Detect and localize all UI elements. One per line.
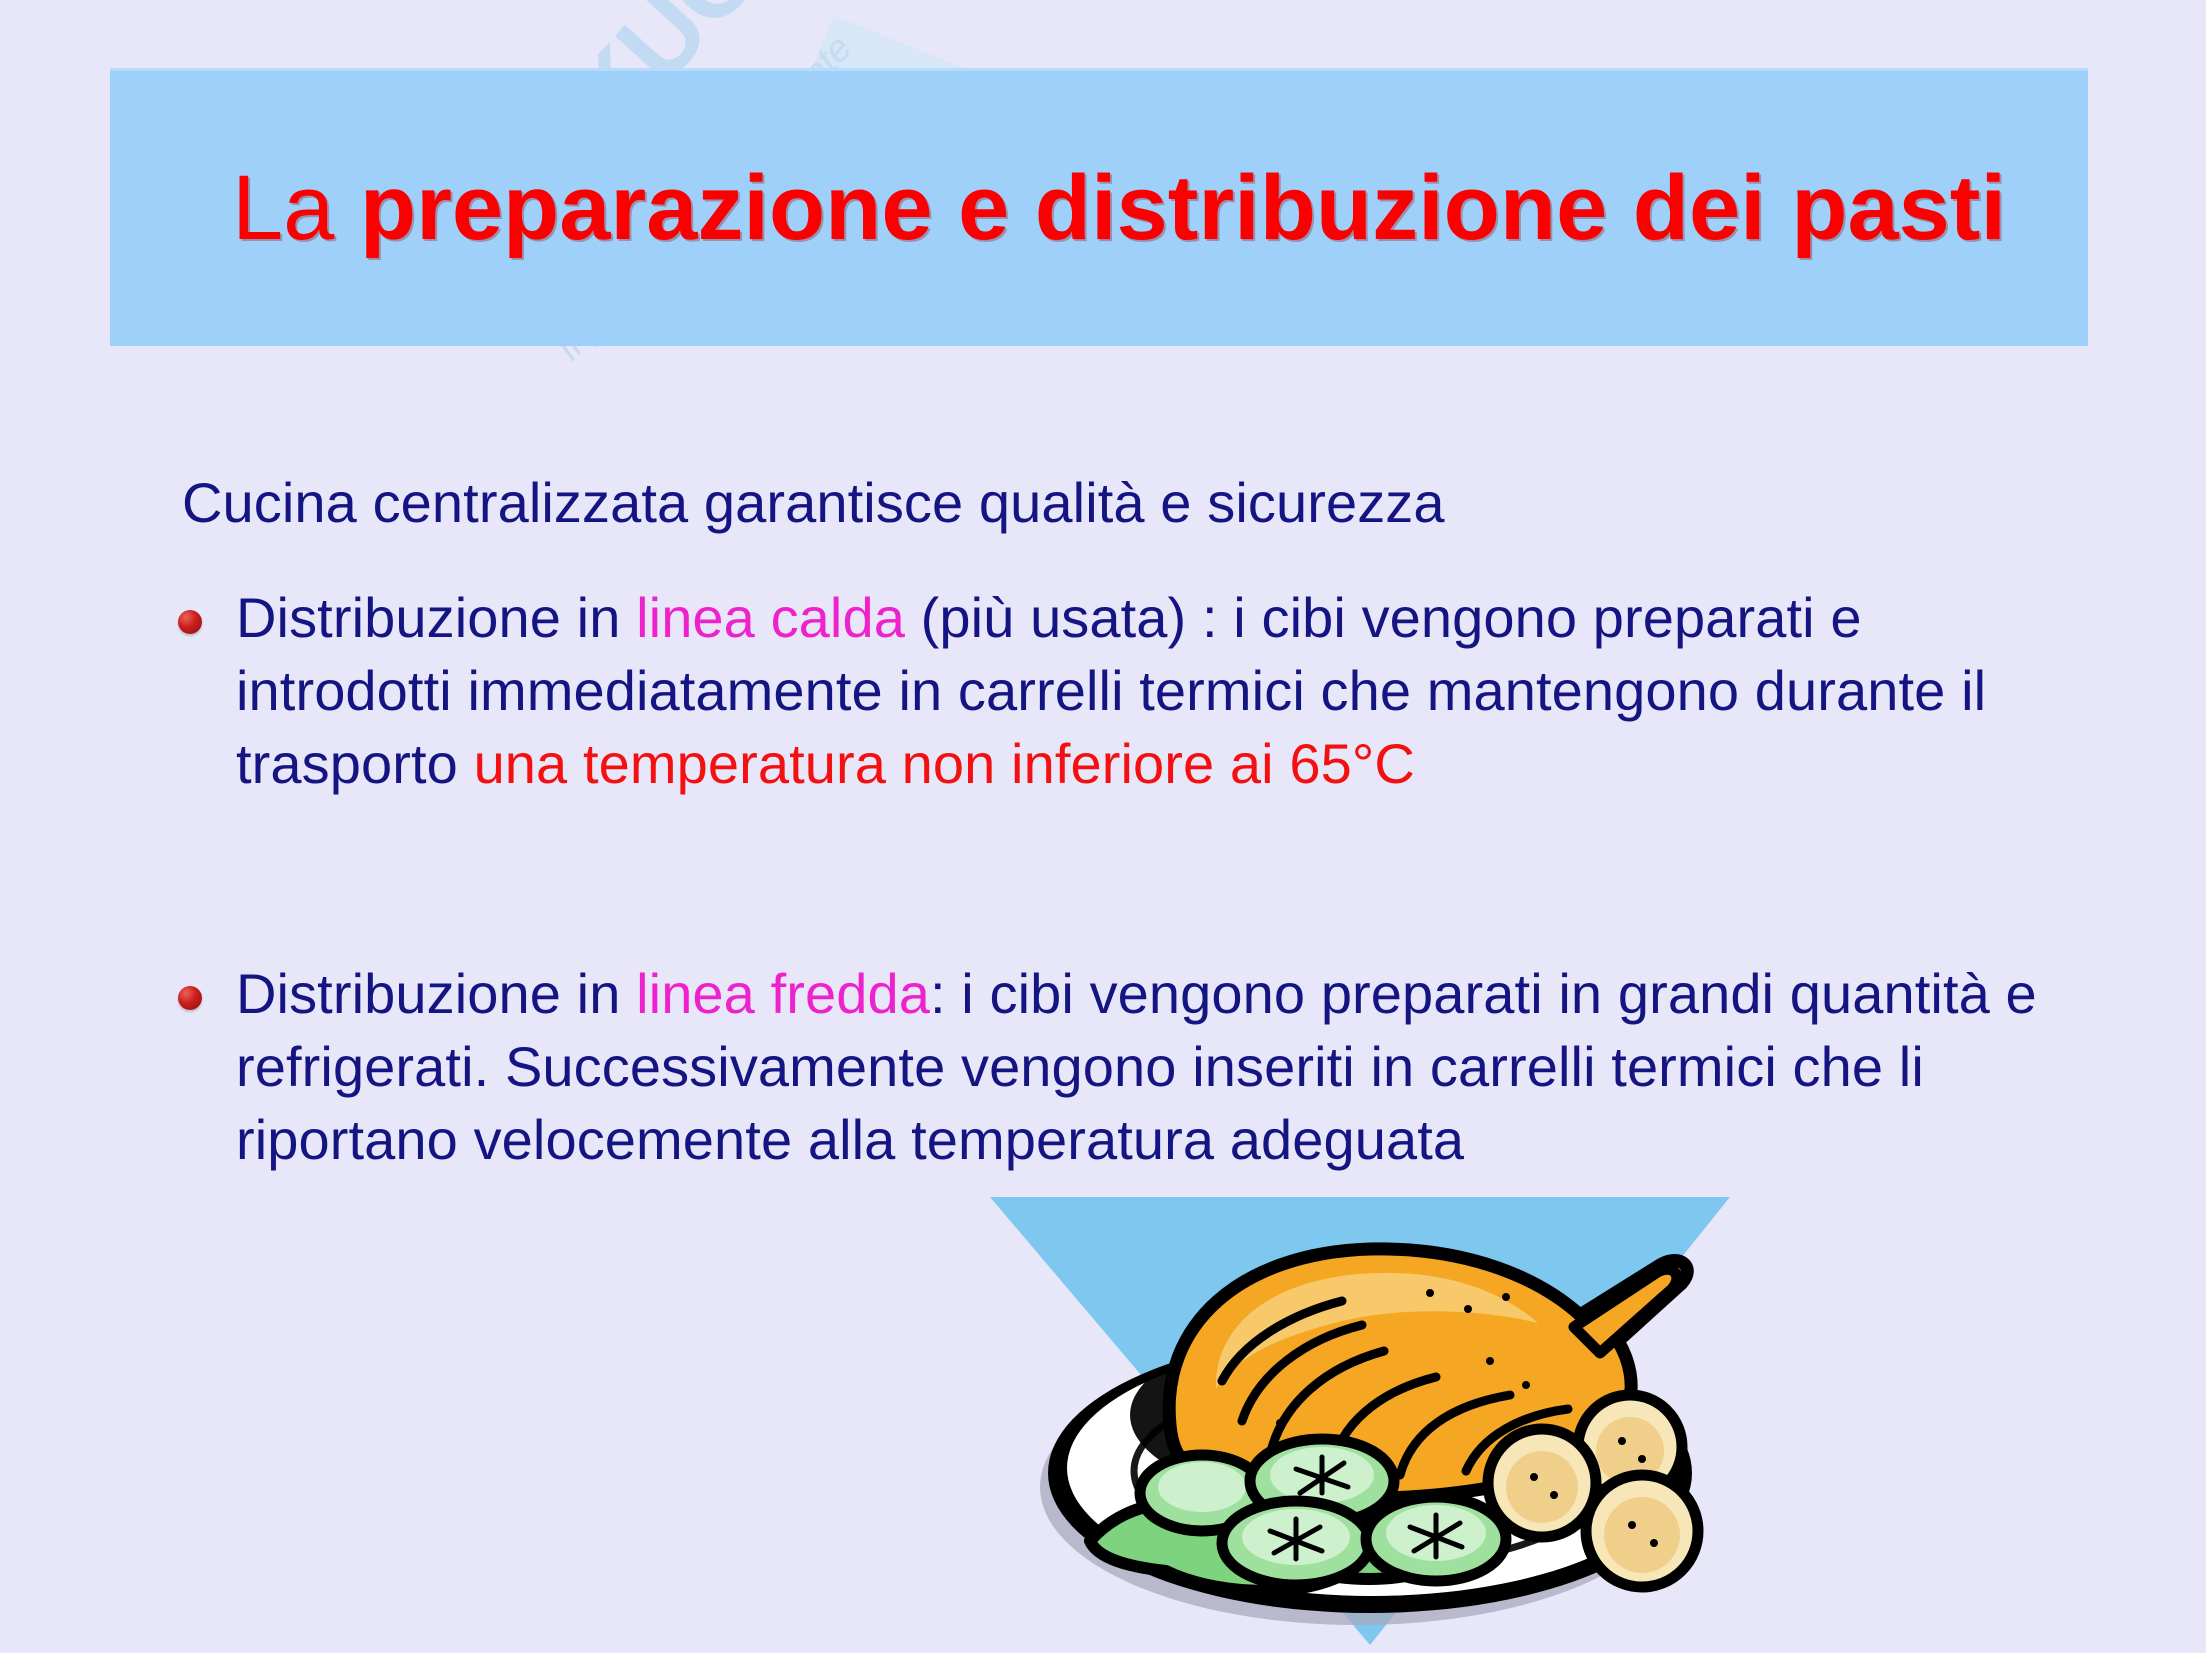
roast-chicken-plate-illustration [970, 1175, 1760, 1653]
sphere-bullet-icon [178, 582, 236, 634]
slide-canvas: SKUOLA.net il paradiso dello studente La… [0, 0, 2206, 1653]
list-item: Distribuzione in linea calda (più usata)… [178, 582, 2078, 800]
slide-title-bar: La preparazione e distribuzione dei past… [110, 68, 2088, 346]
bullet-1-seg-3-temperatura: una temperatura non inferiore ai 65°C [474, 732, 1415, 795]
bullet-spacer [178, 810, 2078, 958]
list-item: Distribuzione in linea fredda: i cibi ve… [178, 958, 2078, 1176]
page-title: La preparazione e distribuzione dei past… [130, 160, 2108, 257]
clipart-svg [970, 1175, 1760, 1653]
bullet-2-text: Distribuzione in linea fredda: i cibi ve… [236, 958, 2078, 1176]
page-title-light: La [232, 157, 360, 259]
page-title-bold: preparazione e distribuzione dei pasti [360, 157, 2006, 259]
bullet-2-seg-0: Distribuzione in [236, 962, 636, 1025]
bullet-2-seg-1-linea-fredda: linea fredda [636, 962, 930, 1025]
bullet-1-seg-1-linea-calda: linea calda [636, 586, 905, 649]
bullet-1-seg-0: Distribuzione in [236, 586, 636, 649]
bullet-1-text: Distribuzione in linea calda (più usata)… [236, 582, 2078, 800]
sphere-bullet-icon [178, 958, 236, 1010]
lead-statement: Cucina centralizzata garantisce qualità … [178, 470, 2078, 536]
slide-body: Cucina centralizzata garantisce qualità … [178, 470, 2078, 1187]
